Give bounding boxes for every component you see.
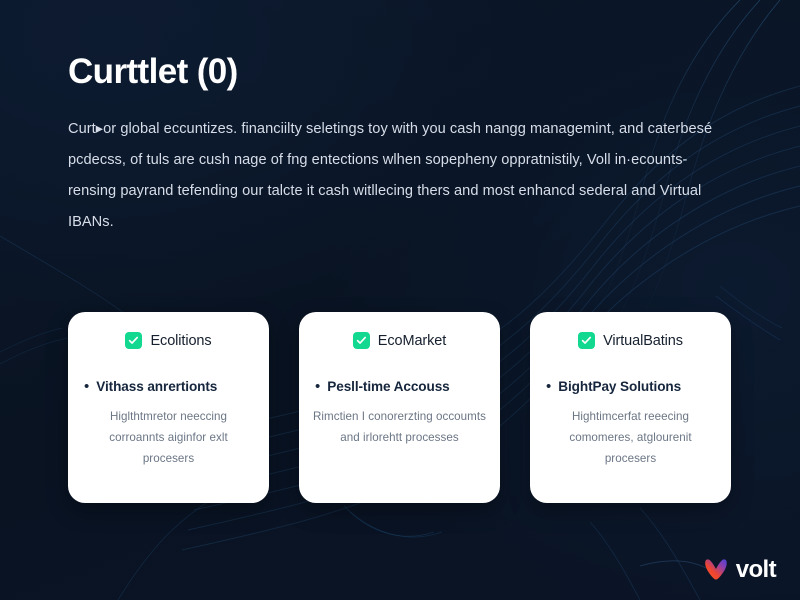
- bullet-dot-icon: •: [315, 379, 320, 394]
- card-bullet-row: • BightPay Solutions: [544, 379, 717, 394]
- page-title: Curttlet (0): [68, 52, 740, 92]
- card-body-text: Higlthtmretor neeccing corroannts aiginf…: [82, 406, 255, 469]
- volt-logo[interactable]: volt: [703, 558, 776, 582]
- card-body-text: Hightimcerfat reeecing comomeres, atglou…: [544, 406, 717, 469]
- card-bullet-heading: BightPay Solutions: [558, 379, 681, 394]
- card-bullet-row: • Vithass anrertionts: [82, 379, 255, 394]
- hero-paragraph: Curt▸or global eccuntizes. financiilty s…: [68, 114, 730, 238]
- hero-section: Curttlet (0) Curt▸or global eccuntizes. …: [68, 52, 740, 238]
- card-bullet-heading: Vithass anrertionts: [96, 379, 217, 394]
- check-square-icon: [578, 332, 595, 349]
- feature-card[interactable]: Ecolitions • Vithass anrertionts Higltht…: [68, 312, 269, 503]
- card-bullet-heading: Pesll-time Accouss: [327, 379, 449, 394]
- feature-card[interactable]: EcoMarket • Pesll-time Accouss Rimctien …: [299, 312, 500, 503]
- card-title: Ecolitions: [150, 333, 211, 349]
- feature-card-row: Ecolitions • Vithass anrertionts Higltht…: [68, 312, 732, 503]
- card-body-text: Rimctien I conorerzting occoumts and irl…: [313, 406, 486, 448]
- card-title: EcoMarket: [378, 333, 446, 349]
- card-title: VirtualBatins: [603, 333, 683, 349]
- card-header: EcoMarket: [353, 332, 446, 349]
- check-square-icon: [353, 332, 370, 349]
- card-bullet-row: • Pesll-time Accouss: [313, 379, 486, 394]
- volt-wordmark: volt: [736, 558, 776, 582]
- card-header: Ecolitions: [125, 332, 211, 349]
- check-square-icon: [125, 332, 142, 349]
- volt-heart-icon: [703, 558, 729, 582]
- bullet-dot-icon: •: [84, 379, 89, 394]
- card-header: VirtualBatins: [578, 332, 683, 349]
- feature-card[interactable]: VirtualBatins • BightPay Solutions Hight…: [530, 312, 731, 503]
- bullet-dot-icon: •: [546, 379, 551, 394]
